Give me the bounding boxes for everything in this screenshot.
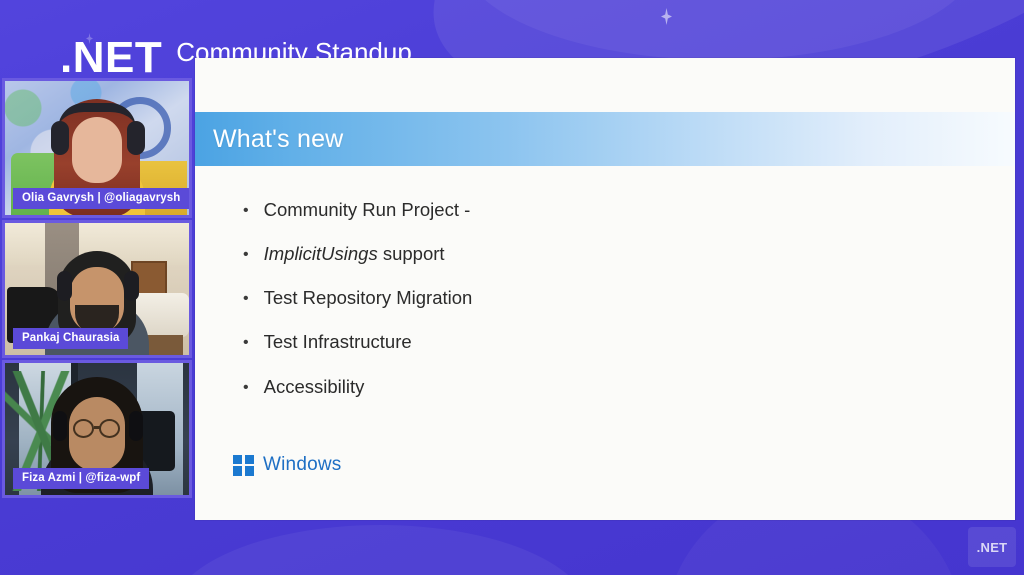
list-item-label: Test Repository Migration <box>264 286 473 309</box>
list-item-emphasis: ImplicitUsings <box>264 243 378 264</box>
windows-icon <box>233 455 254 476</box>
list-item-label: Accessibility <box>264 375 365 398</box>
list-item: • Test Repository Migration <box>243 286 943 309</box>
list-item: • Community Run Project - <box>243 198 943 221</box>
bullet-dot-icon: • <box>243 335 249 351</box>
list-item-rest: support <box>378 243 445 264</box>
participant-name-badge: Pankaj Chaurasia <box>13 328 128 349</box>
list-item: • ImplicitUsings support <box>243 242 943 265</box>
video-tile-participant-3[interactable]: Fiza Azmi | @fiza-wpf <box>2 360 192 498</box>
bullet-dot-icon: • <box>243 380 249 396</box>
livestream-screen: .NET Community Standup What's new • Comm… <box>0 0 1024 575</box>
list-item: • Test Infrastructure <box>243 330 943 353</box>
list-item: • Accessibility <box>243 375 943 398</box>
participant-name-badge: Olia Gavrysh | @oliagavrysh <box>13 188 189 209</box>
participant-name-badge: Fiza Azmi | @fiza-wpf <box>13 468 149 489</box>
list-item-label: Community Run Project - <box>264 198 471 221</box>
list-item-label: Test Infrastructure <box>264 330 412 353</box>
windows-logo: Windows <box>233 454 341 476</box>
slide-title: What's new <box>213 125 343 154</box>
slide-header-bar: What's new <box>195 112 1015 166</box>
video-tile-participant-1[interactable]: Olia Gavrysh | @oliagavrysh <box>2 78 192 218</box>
bullet-dot-icon: • <box>243 203 249 219</box>
video-tile-participant-2[interactable]: Pankaj Chaurasia <box>2 220 192 358</box>
dotnet-wordmark: .NET <box>60 36 162 80</box>
dotnet-watermark-badge: .NET <box>968 527 1016 567</box>
slide-bullet-list: • Community Run Project - • ImplicitUsin… <box>243 198 943 419</box>
bullet-dot-icon: • <box>243 291 249 307</box>
presentation-slide: What's new • Community Run Project - • I… <box>195 58 1015 520</box>
list-item-label: ImplicitUsings support <box>264 242 445 265</box>
bullet-dot-icon: • <box>243 247 249 263</box>
windows-logo-label: Windows <box>263 454 341 476</box>
